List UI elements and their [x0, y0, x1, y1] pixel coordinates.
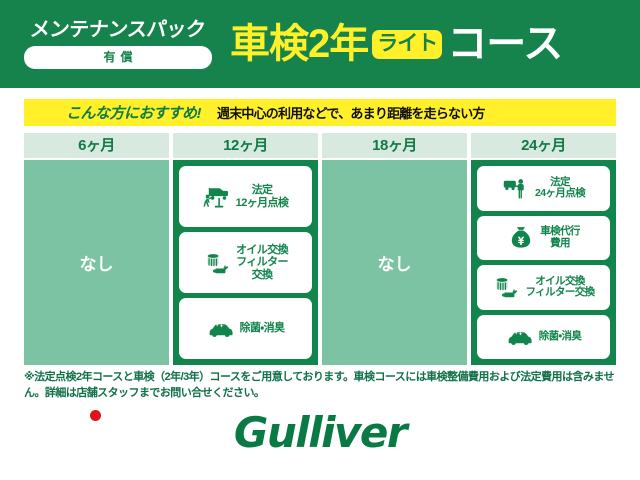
brand-logo: Gulliver	[0, 412, 640, 454]
column-body-18months: なし	[322, 160, 467, 365]
service-card-label: 法定 24ヶ月点検	[535, 177, 585, 201]
maintenance-pack-banner: メンテナンスパック 有償 車検2年 ライト コース こんな方におすすめ! 週末中…	[0, 0, 640, 480]
table-column-12months: 12ヶ月	[173, 133, 318, 365]
maintenance-pack-title: メンテナンスパック	[29, 20, 206, 41]
none-label-18months: なし	[378, 250, 412, 275]
gulliver-logo-dot	[90, 410, 101, 421]
service-card-label: 法定 12ヶ月点検	[236, 184, 289, 209]
plan-light-badge: ライト	[372, 30, 442, 59]
car-lift-inspection-icon	[203, 183, 231, 211]
header-left-group: メンテナンスパック 有償	[14, 20, 222, 69]
header-bar: メンテナンスパック 有償 車検2年 ライト コース	[0, 0, 640, 88]
service-card-label: オイル交換 フィルター交換	[525, 276, 594, 300]
column-body-24months: 法定 24ヶ月点検 車検代行 費用	[471, 160, 616, 365]
recommendation-bar: こんな方におすすめ! 週末中心の利用などで、あまり距離を走らない方	[24, 99, 616, 126]
table-column-18months: 18ヶ月 なし	[322, 133, 467, 365]
column-header-12months: 12ヶ月	[173, 133, 318, 158]
table-column-6months: 6ヶ月 なし	[24, 133, 169, 365]
column-body-6months: なし	[24, 160, 169, 365]
column-header-18months: 18ヶ月	[322, 133, 467, 158]
service-card-label: 除菌・消臭	[539, 331, 582, 343]
service-schedule-table: 6ヶ月 なし 12ヶ月	[24, 133, 616, 365]
service-card-legal-24month-inspection: 法定 24ヶ月点検	[477, 166, 610, 211]
service-card-label: 除菌・消臭	[240, 322, 285, 334]
service-card-oil-filter-change: オイル交換 フィルター 交換	[179, 232, 312, 293]
service-card-sanitize-deodorize: 除菌・消臭	[179, 298, 312, 359]
service-card-sanitize-deodorize: 除菌・消臭	[477, 315, 610, 360]
car-sanitize-icon	[506, 323, 534, 351]
money-bag-yen-icon	[507, 224, 535, 252]
recommendation-description: 週末中心の利用などで、あまり距離を走らない方	[217, 103, 485, 122]
table-column-24months: 24ヶ月	[471, 133, 616, 365]
car-sanitize-icon	[207, 315, 235, 343]
recommendation-heading: こんな方におすすめ!	[66, 102, 201, 123]
gulliver-logo-text: Gulliver	[234, 412, 406, 454]
service-card-legal-12month-inspection: 法定 12ヶ月点検	[179, 166, 312, 227]
oil-filter-change-icon	[492, 273, 520, 301]
service-card-label: 車検代行 費用	[540, 226, 580, 250]
service-card-oil-filter-change: オイル交換 フィルター交換	[477, 265, 610, 310]
service-card-label: オイル交換 フィルター 交換	[236, 244, 288, 281]
header-right-group: 車検2年 ライト コース	[222, 24, 630, 64]
paid-badge: 有償	[24, 46, 212, 69]
car-inspection-agent-icon	[502, 174, 530, 202]
column-header-24months: 24ヶ月	[471, 133, 616, 158]
plan-main-title: 車検2年	[230, 24, 368, 64]
plan-course-suffix: コース	[447, 24, 562, 64]
footnote-text: ※法定点検2年コースと車検（2年/3年）コースをご用意しております。車検コースに…	[24, 370, 624, 402]
service-card-inspection-agency-fee: 車検代行 費用	[477, 216, 610, 261]
column-body-12months: 法定 12ヶ月点検	[173, 160, 318, 365]
none-label-6months: なし	[80, 250, 114, 275]
column-header-6months: 6ヶ月	[24, 133, 169, 158]
oil-filter-change-icon	[203, 249, 231, 277]
